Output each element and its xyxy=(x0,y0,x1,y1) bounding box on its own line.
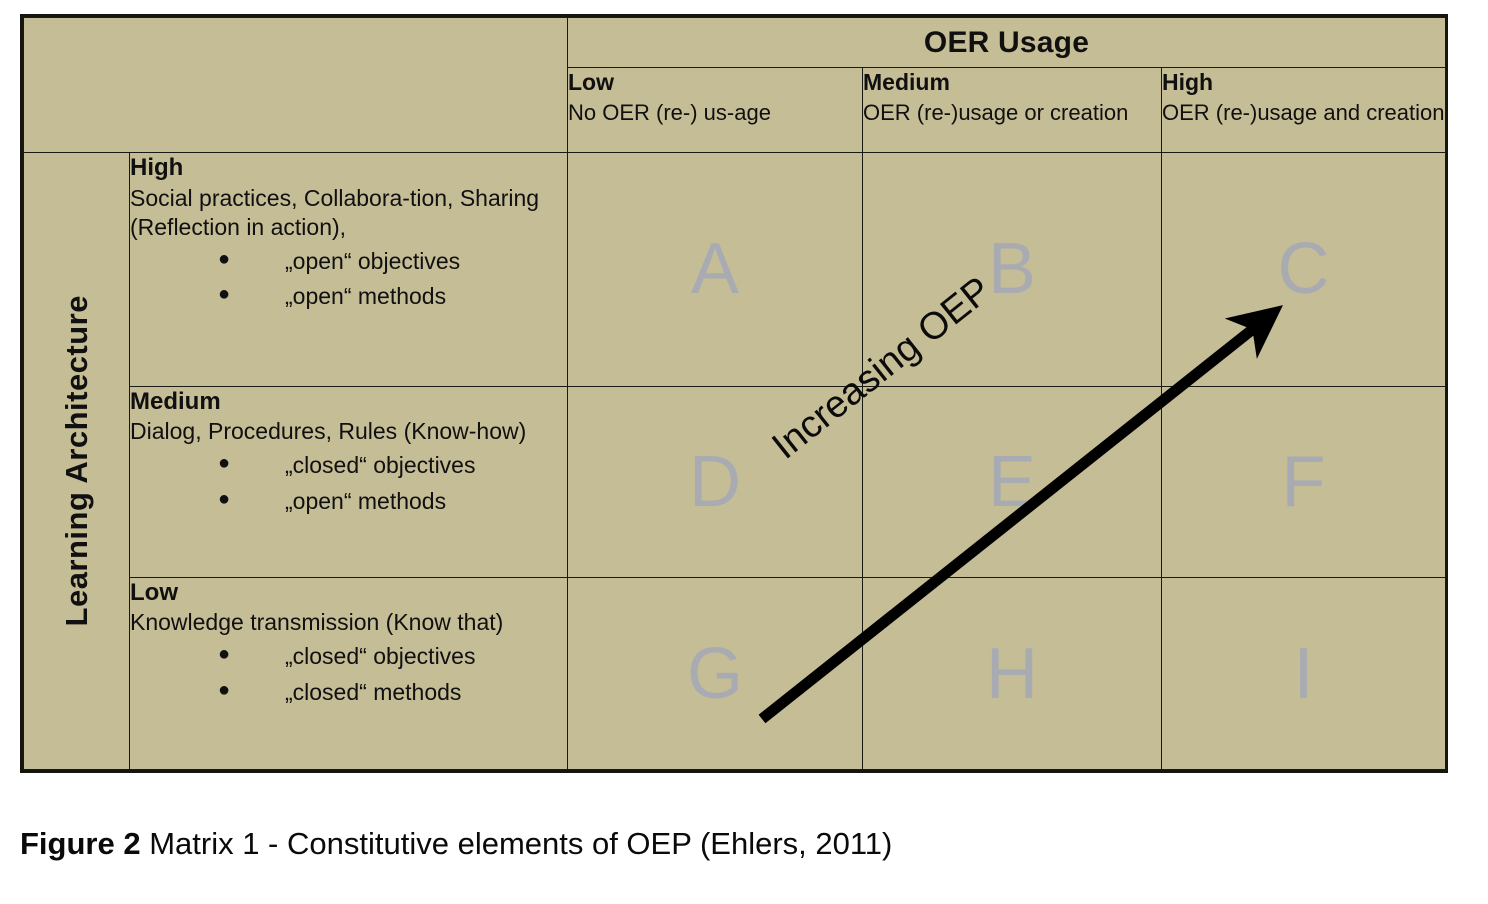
matrix-cell-h: H xyxy=(863,578,1162,770)
matrix-cell-d-letter: D xyxy=(568,446,862,518)
figure-container: OER Usage Low No OER (re-) us-age Medium… xyxy=(0,0,1488,904)
matrix-cell-a: A xyxy=(568,153,863,386)
bullet-icon: ● xyxy=(218,484,230,515)
list-item: ● „closed“ methods xyxy=(130,675,567,711)
row-header-high-label: High xyxy=(130,153,567,183)
bullet-icon: ● xyxy=(218,675,230,706)
row-header-high-bullets: ● „open“ objectives ● „open“ methods xyxy=(130,244,567,316)
bullet-icon: ● xyxy=(218,279,230,310)
row-header-high: High Social practices, Collabora-tion, S… xyxy=(130,153,568,386)
list-item: ● „open“ methods xyxy=(130,279,567,315)
row-header-low-bullets: ● „closed“ objectives ● „closed“ methods xyxy=(130,639,567,711)
column-header-high-label: High xyxy=(1162,68,1445,97)
matrix-cell-e-letter: E xyxy=(863,446,1161,518)
matrix-cell-i: I xyxy=(1162,578,1446,770)
row-header-medium-bullets: ● „closed“ objectives ● „open“ methods xyxy=(130,448,567,520)
figure-caption-text: Matrix 1 - Constitutive elements of OEP … xyxy=(141,826,893,861)
matrix-cell-c: C xyxy=(1162,153,1446,386)
matrix-cell-g-letter: G xyxy=(568,638,862,710)
row-header-medium-label: Medium xyxy=(130,387,567,417)
row-axis-title-label: Learning Architecture xyxy=(59,295,95,626)
column-header-low-label: Low xyxy=(568,68,862,97)
row-header-low-label: Low xyxy=(130,578,567,608)
list-item-label: „closed“ objectives xyxy=(285,643,475,669)
row-header-medium: Medium Dialog, Procedures, Rules (Know-h… xyxy=(130,386,568,578)
column-header-high-desc: OER (re-)usage and creation xyxy=(1162,99,1445,127)
matrix-cell-f: F xyxy=(1162,386,1446,578)
matrix-header-row-title: OER Usage xyxy=(24,18,1446,68)
matrix-row-medium: Medium Dialog, Procedures, Rules (Know-h… xyxy=(24,386,1446,578)
bullet-icon: ● xyxy=(218,639,230,670)
bullet-icon: ● xyxy=(218,448,230,479)
column-header-high: High OER (re-)usage and creation xyxy=(1162,68,1446,153)
list-item-label: „open“ methods xyxy=(285,283,446,309)
row-header-medium-desc: Dialog, Procedures, Rules (Know-how) xyxy=(130,417,567,446)
matrix-cell-a-letter: A xyxy=(568,233,862,305)
matrix-cell-h-letter: H xyxy=(863,638,1161,710)
row-header-low: Low Knowledge transmission (Know that) ●… xyxy=(130,578,568,770)
matrix-row-low: Low Knowledge transmission (Know that) ●… xyxy=(24,578,1446,770)
matrix-cell-b-letter: B xyxy=(863,233,1161,305)
matrix-row-high: Learning Architecture High Social practi… xyxy=(24,153,1446,386)
matrix-cell-f-letter: F xyxy=(1162,446,1445,518)
row-header-low-desc: Knowledge transmission (Know that) xyxy=(130,608,567,637)
matrix-cell-g: G xyxy=(568,578,863,770)
matrix-corner-cell xyxy=(24,18,568,153)
list-item: ● „closed“ objectives xyxy=(130,639,567,675)
list-item-label: „open“ objectives xyxy=(285,248,460,274)
matrix-table: OER Usage Low No OER (re-) us-age Medium… xyxy=(23,17,1446,770)
figure-caption: Figure 2 Matrix 1 - Constitutive element… xyxy=(20,826,892,862)
matrix-cell-i-letter: I xyxy=(1162,638,1445,710)
figure-number: Figure 2 xyxy=(20,826,141,861)
column-header-low-desc: No OER (re-) us-age xyxy=(568,99,862,127)
matrix-cell-e: E xyxy=(863,386,1162,578)
list-item: ● „closed“ objectives xyxy=(130,448,567,484)
list-item: ● „open“ objectives xyxy=(130,244,567,280)
column-header-medium: Medium OER (re-)usage or creation xyxy=(863,68,1162,153)
row-header-high-desc: Social practices, Collabora-tion, Sharin… xyxy=(130,184,567,242)
list-item-label: „closed“ objectives xyxy=(285,452,475,478)
matrix-cell-c-letter: C xyxy=(1162,233,1445,305)
bullet-icon: ● xyxy=(218,244,230,275)
column-header-low: Low No OER (re-) us-age xyxy=(568,68,863,153)
list-item: ● „open“ methods xyxy=(130,484,567,520)
oep-matrix: OER Usage Low No OER (re-) us-age Medium… xyxy=(20,14,1448,773)
list-item-label: „open“ methods xyxy=(285,488,446,514)
row-axis-title: Learning Architecture xyxy=(24,153,130,770)
column-axis-title: OER Usage xyxy=(568,18,1446,68)
column-header-medium-desc: OER (re-)usage or creation xyxy=(863,99,1161,127)
column-header-medium-label: Medium xyxy=(863,68,1161,97)
list-item-label: „closed“ methods xyxy=(285,679,461,705)
